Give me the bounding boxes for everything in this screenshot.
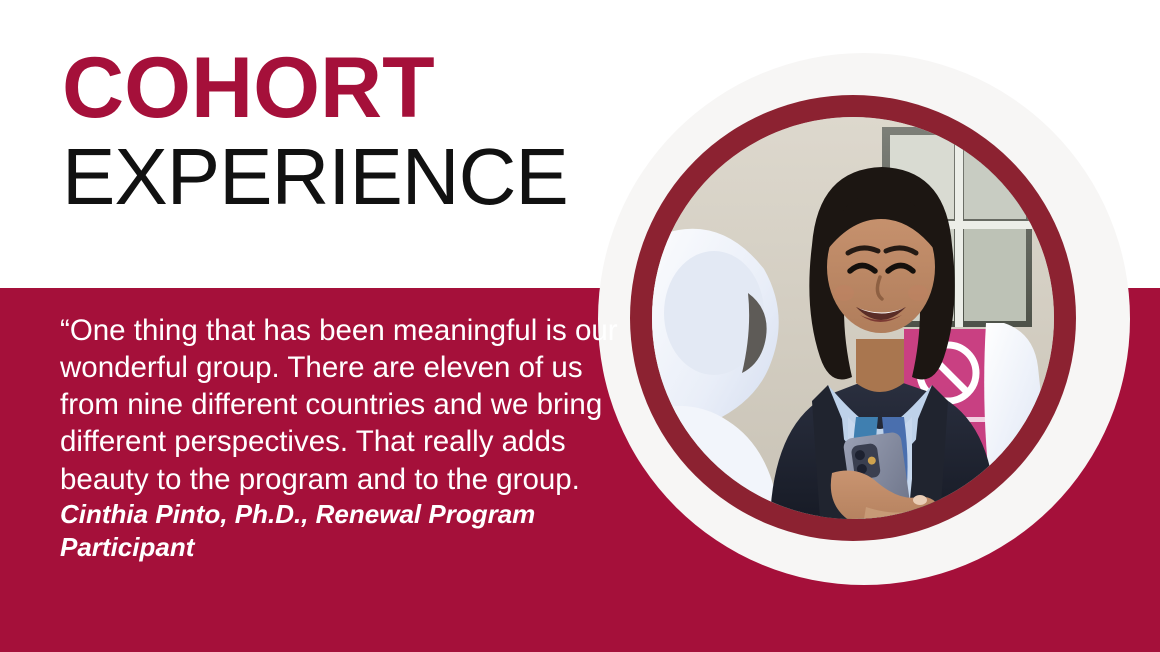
page-title: COHORT EXPERIENCE <box>62 46 568 217</box>
title-line-experience: EXPERIENCE <box>62 138 568 216</box>
testimonial-block: “One thing that has been meaningful is o… <box>60 312 620 564</box>
quote-attribution: Cinthia Pinto, Ph.D., Renewal Program Pa… <box>60 498 620 564</box>
quote-text: “One thing that has been meaningful is o… <box>60 312 620 498</box>
cohort-experience-slide: COHORT EXPERIENCE “One thing that has be… <box>0 0 1160 652</box>
title-line-cohort: COHORT <box>62 46 568 130</box>
